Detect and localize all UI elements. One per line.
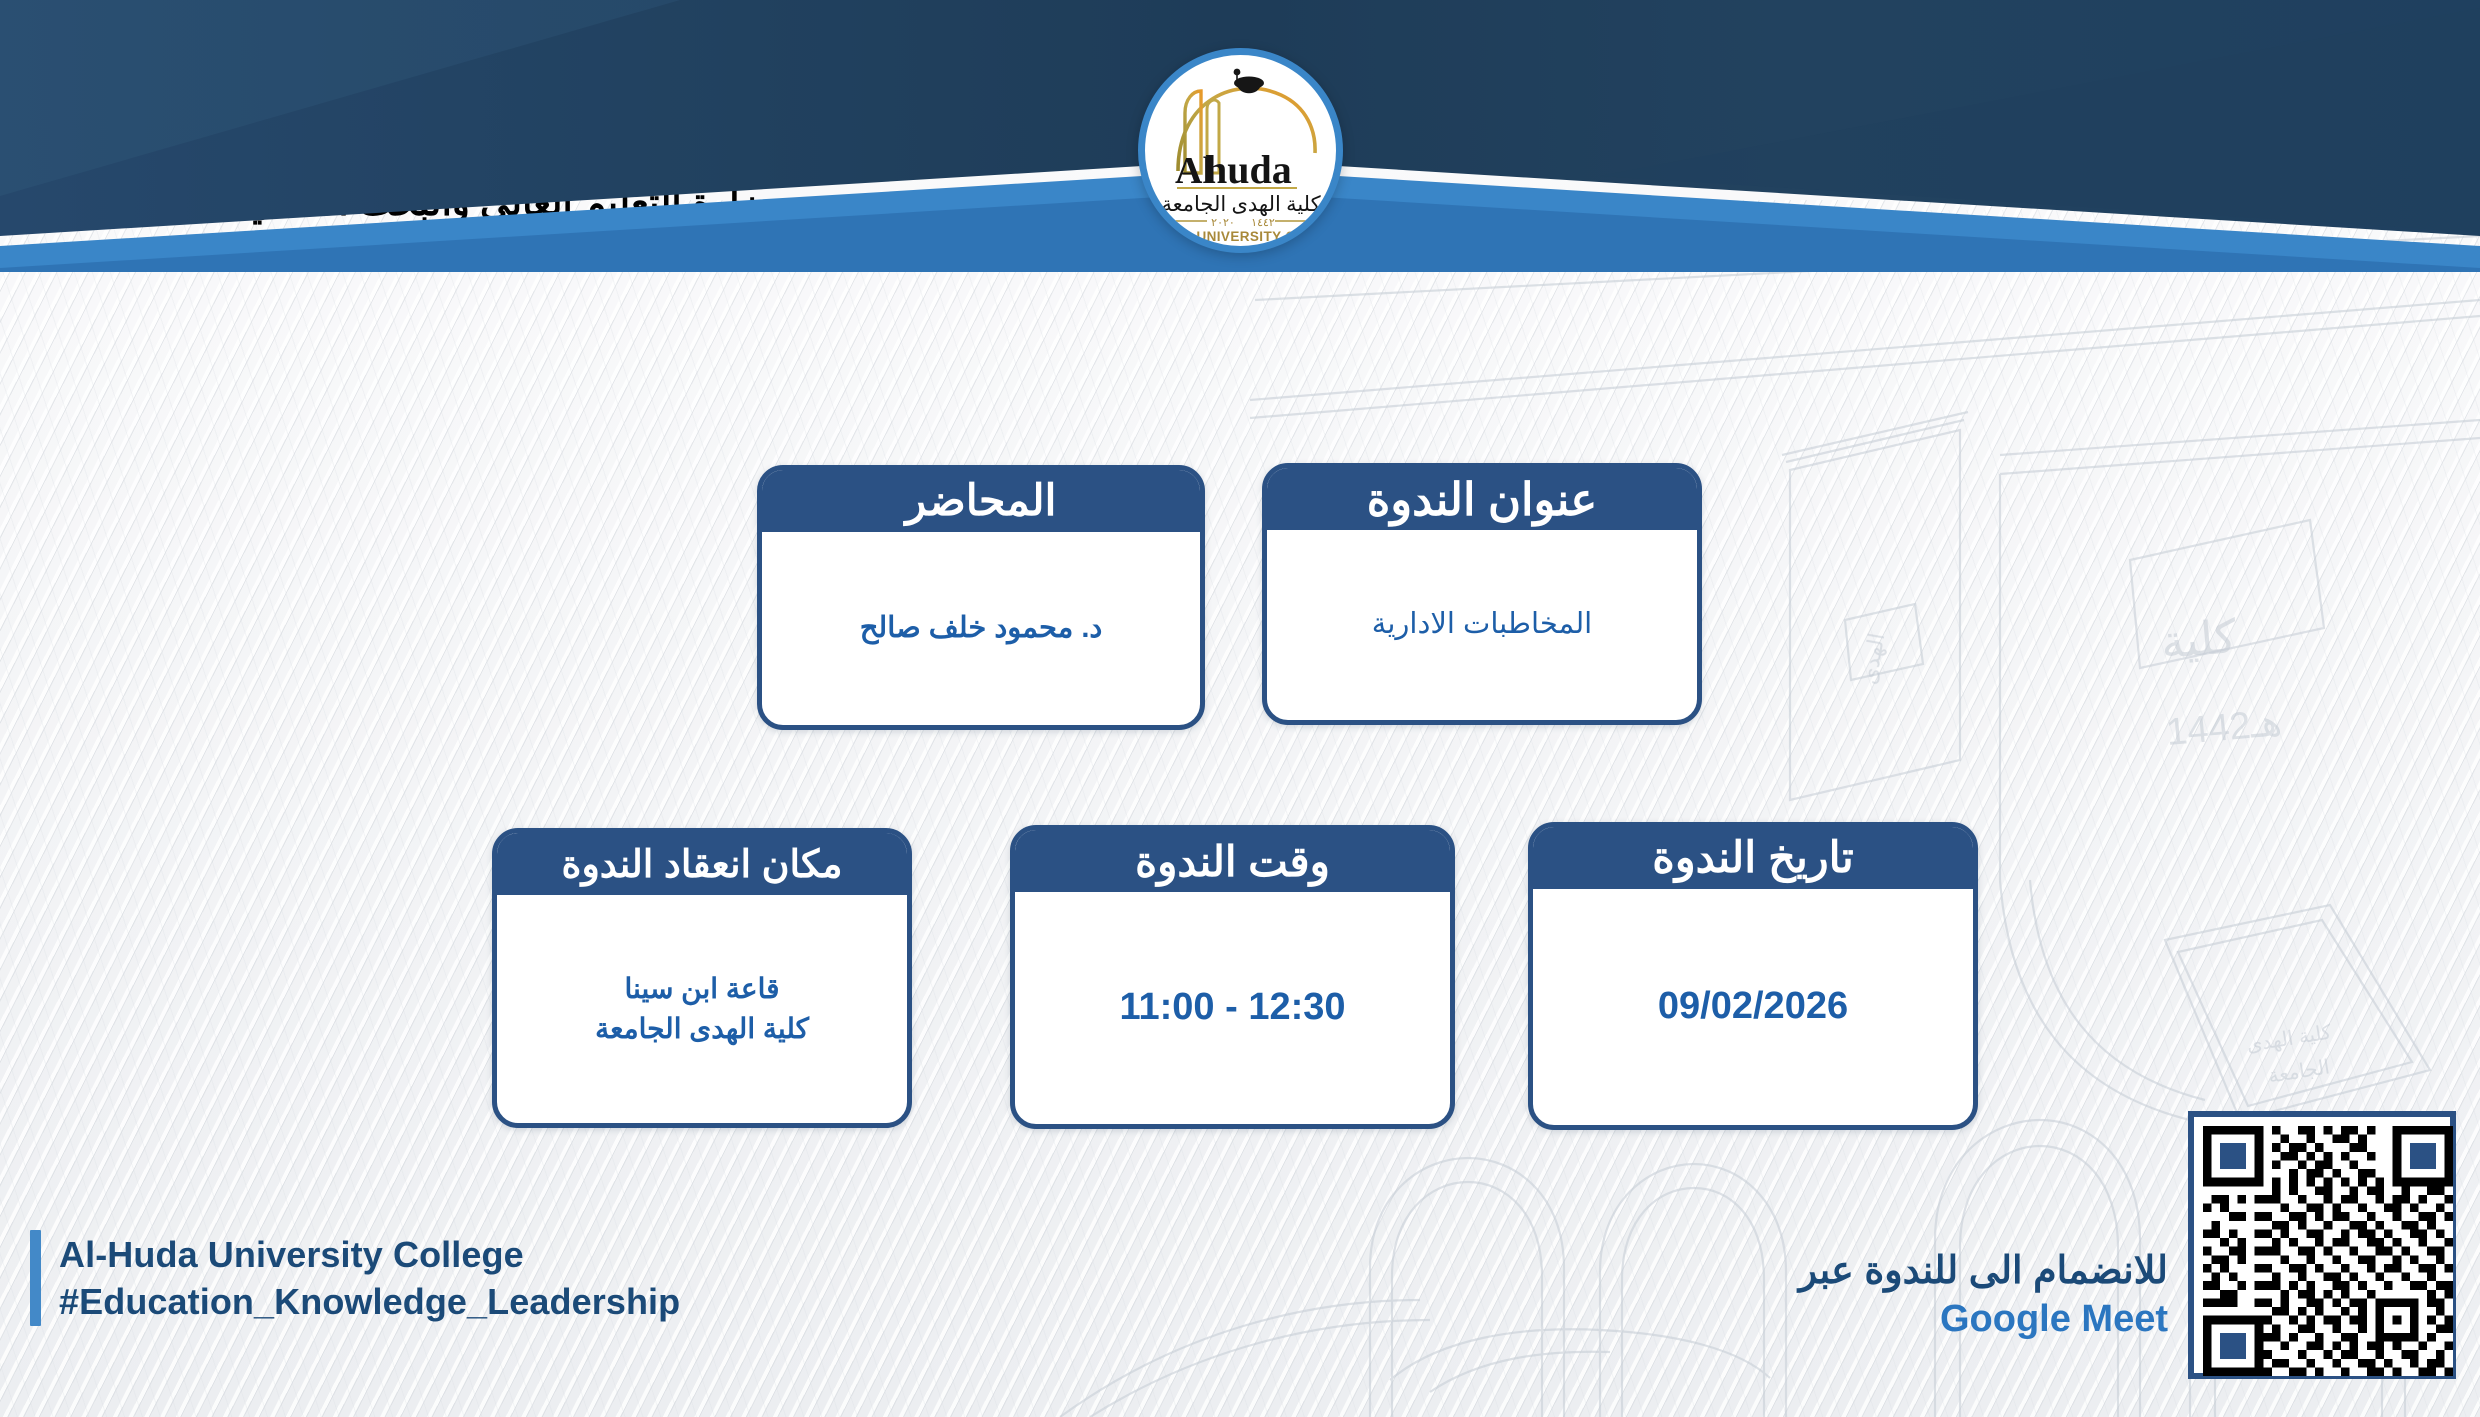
card-seminar-date-title: تاريخ الندوة bbox=[1533, 827, 1973, 889]
join-instructions-arabic: للانضمام الى للندوة عبر bbox=[1799, 1248, 2168, 1296]
svg-text:AL-HUDA UNIVERSITY COLLEGE: AL-HUDA UNIVERSITY COLLEGE bbox=[1145, 229, 1336, 244]
footer-branding: Al-Huda University College #Education_Kn… bbox=[30, 1230, 680, 1326]
card-seminar-topic: عنوان الندوة المخاطبات الادارية bbox=[1262, 463, 1702, 725]
footer-accent-bar bbox=[30, 1230, 41, 1326]
svg-text:١٤٤٢: ١٤٤٢ bbox=[1251, 217, 1275, 229]
event-poster: كلية هـ1442 الهدى كلية الهدى الجامعة bbox=[0, 0, 2480, 1417]
svg-text:كلية الهدى: كلية الهدى bbox=[2245, 1021, 2333, 1056]
footer-hashtag: #Education_Knowledge_Leadership bbox=[59, 1279, 680, 1326]
card-lecturer-body: د. محمود خلف صالح bbox=[762, 532, 1200, 725]
card-seminar-time-value-line-1: 11:00 - 12:30 bbox=[1119, 981, 1345, 1035]
card-seminar-date-body: 09/02/2026 bbox=[1533, 889, 1973, 1125]
join-instructions: للانضمام الى للندوة عبر Google Meet bbox=[1799, 1248, 2168, 1344]
footer-text: Al-Huda University College #Education_Kn… bbox=[59, 1230, 680, 1326]
card-seminar-place-body: قاعة ابن سينا كلية الهدى الجامعة bbox=[497, 895, 907, 1123]
card-seminar-date-value-line-1: 09/02/2026 bbox=[1658, 980, 1848, 1034]
card-seminar-place-title: مكان انعقاد الندوة bbox=[497, 833, 907, 895]
svg-text:هـ1442: هـ1442 bbox=[2164, 702, 2283, 754]
card-lecturer-title: المحاضر bbox=[762, 470, 1200, 532]
card-seminar-topic-value-line-1: المخاطبات الادارية bbox=[1372, 604, 1592, 645]
qr-code[interactable] bbox=[2188, 1111, 2456, 1379]
join-platform-label: Google Meet bbox=[1799, 1296, 2168, 1344]
card-seminar-topic-body: المخاطبات الادارية bbox=[1267, 530, 1697, 720]
svg-text:Al: Al bbox=[1175, 150, 1213, 192]
card-seminar-time-title: وقت الندوة bbox=[1015, 830, 1450, 892]
university-logo: huda Al كلية الهدى الجامعة ٢٠٢٠ ١٤٤٢ AL-… bbox=[1138, 48, 1343, 253]
svg-text:٢٠٢٠: ٢٠٢٠ bbox=[1211, 217, 1235, 229]
svg-text:الهدى: الهدى bbox=[1856, 631, 1891, 686]
card-seminar-topic-title: عنوان الندوة bbox=[1267, 468, 1697, 530]
card-seminar-date: تاريخ الندوة 09/02/2026 bbox=[1528, 822, 1978, 1130]
svg-text:كلية الهدى الجامعة: كلية الهدى الجامعة bbox=[1161, 192, 1320, 217]
card-seminar-time-body: 11:00 - 12:30 bbox=[1015, 892, 1450, 1124]
svg-text:كلية: كلية bbox=[2159, 610, 2239, 668]
card-lecturer: المحاضر د. محمود خلف صالح bbox=[757, 465, 1205, 730]
card-seminar-place-value-line-1: قاعة ابن سينا bbox=[595, 969, 809, 1009]
card-seminar-place-value-line-2: كلية الهدى الجامعة bbox=[595, 1009, 809, 1049]
card-lecturer-value-line-1: د. محمود خلف صالح bbox=[860, 608, 1103, 649]
footer-college-name: Al-Huda University College bbox=[59, 1232, 680, 1279]
svg-text:الجامعة: الجامعة bbox=[2267, 1056, 2331, 1087]
card-seminar-time: وقت الندوة 11:00 - 12:30 bbox=[1010, 825, 1455, 1129]
card-seminar-place: مكان انعقاد الندوة قاعة ابن سينا كلية ال… bbox=[492, 828, 912, 1128]
svg-text:huda: huda bbox=[1205, 147, 1292, 192]
